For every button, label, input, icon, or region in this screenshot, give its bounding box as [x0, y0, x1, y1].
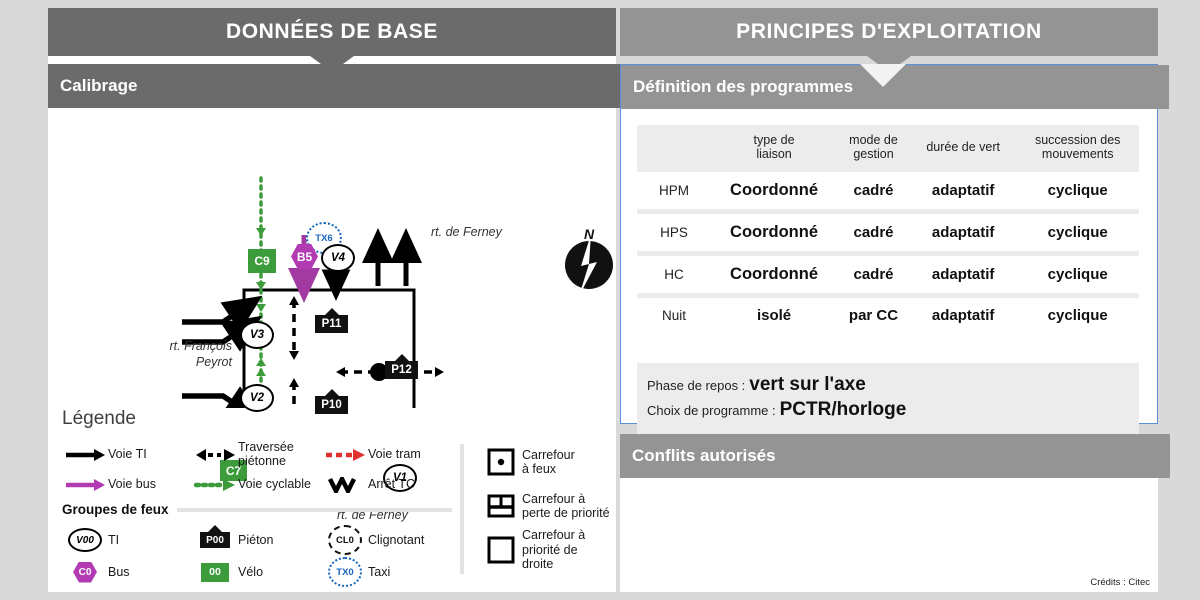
cell-duree-vert: adaptatif — [910, 211, 1016, 253]
legend-row: Voie bus Voie cyclable Arrêt TC — [62, 470, 452, 500]
cell-mode-gestion: par CC — [837, 295, 910, 333]
cell-mode-gestion: cadré — [837, 211, 910, 253]
ped-p11-arrow-up — [289, 296, 299, 305]
right-subheader-2: Conflits autorisés — [620, 434, 1170, 478]
table-row: Nuit isolé par CC adaptatif cyclique — [637, 295, 1139, 333]
square-dot-icon — [480, 447, 522, 477]
carrefour-item-perte-priorite: Carrefour à perte de priorité — [480, 484, 610, 528]
left-body: rt. de Ferney rt. de Ferney rt. François… — [48, 108, 616, 592]
bus-badge-icon: C0 — [62, 562, 108, 583]
groupe-item-velo: 00 Vélo — [192, 563, 322, 582]
marker-p12[interactable]: P12 — [385, 361, 418, 379]
square-empty-icon — [480, 535, 522, 565]
table-header-succession: succession desmouvements — [1016, 125, 1139, 171]
groupe-label: Piéton — [238, 533, 273, 547]
legend-lines-grid: Voie TI Traverséepiétonne Voie tram — [62, 440, 452, 500]
arrow-dotted-green-icon — [192, 478, 238, 492]
taxi-badge-icon: TX0 — [322, 557, 368, 587]
marker-c9[interactable]: C9 — [248, 249, 276, 273]
table-header-duree-vert: durée de vert — [910, 125, 1016, 171]
zigzag-icon — [322, 477, 368, 493]
credits-label: Crédits : Citec — [1090, 577, 1150, 588]
legend-label: Voie cyclable — [238, 478, 311, 492]
groupes-title: Groupes de feux — [62, 502, 169, 517]
velo-badge-icon: 00 — [192, 563, 238, 582]
note-phase-repos: Phase de repos : vert sur l'axe — [647, 374, 1129, 396]
table-header-type-liaison: type deliaison — [711, 125, 837, 171]
note-value: vert sur l'axe — [749, 374, 865, 396]
groupes-row: V00 TI P00 Piéton CL0 Clignotant — [62, 524, 452, 556]
cell-duree-vert: adaptatif — [910, 171, 1016, 212]
cycle-arrow-up-a — [256, 304, 266, 312]
carrefour-item-priorite-droite: Carrefour à priorité de droite — [480, 528, 610, 572]
legend-title: Légende — [62, 408, 136, 430]
left-subheader-title: Calibrage — [60, 76, 137, 96]
cell-succession: cyclique — [1016, 171, 1139, 212]
table-row: HPS Coordonné cadré adaptatif cyclique — [637, 211, 1139, 253]
carrefour-label-line2: priorité de droite — [522, 543, 578, 571]
road-label-left-line1: rt. François — [148, 339, 232, 355]
row-label: HPS — [637, 211, 711, 253]
cell-type-liaison: Coordonné — [711, 171, 837, 212]
groupe-label: Clignotant — [368, 533, 424, 547]
legend-label: Arrêt TC — [368, 478, 415, 492]
arrow-dashed-black-icon — [192, 448, 238, 462]
groupe-item-taxi: TX0 Taxi — [322, 557, 452, 587]
note-label: Phase de repos : — [647, 378, 745, 393]
clignotant-badge-icon: CL0 — [322, 525, 368, 555]
table-row: HPM Coordonné cadré adaptatif cyclique — [637, 171, 1139, 212]
groupe-item-clignotant: CL0 Clignotant — [322, 525, 452, 555]
table-header-mode-gestion: mode degestion — [837, 125, 910, 171]
legend: Légende Voie TI Traverséepiétonne — [48, 404, 616, 592]
legend-item-voie-ti: Voie TI — [62, 448, 192, 462]
carrefour-label-line1: Carrefour à — [522, 492, 585, 506]
arrow-black-icon — [62, 448, 108, 462]
right-subheader-1-title: Définition des programmes — [633, 77, 853, 97]
cycle-arrow-down-c — [256, 358, 266, 366]
square-split-icon — [480, 491, 522, 521]
note-value: PCTR/horloge — [780, 399, 907, 421]
pieton-badge-icon: P00 — [192, 532, 238, 548]
legend-item-voie-cyclable: Voie cyclable — [192, 478, 322, 492]
v3-arrow-top — [182, 308, 244, 322]
groupe-item-pieton: P00 Piéton — [192, 532, 322, 548]
left-subheader: Calibrage — [48, 64, 628, 108]
carrefour-label-line1: Carrefour — [522, 448, 575, 462]
cell-duree-vert: adaptatif — [910, 295, 1016, 333]
legend-label: Voie TI — [108, 448, 147, 462]
marker-v4[interactable]: V4 — [321, 244, 355, 272]
cycle-arrow-down-a — [256, 228, 266, 236]
right-subheader-2-title: Conflits autorisés — [632, 446, 776, 466]
cell-type-liaison: Coordonné — [711, 253, 837, 295]
row-label: Nuit — [637, 295, 711, 333]
groupe-label: Taxi — [368, 565, 390, 579]
legend-item-voie-bus: Voie bus — [62, 478, 192, 492]
programmes-table: type deliaison mode degestion durée de v… — [637, 125, 1139, 333]
legend-item-arret-tc: Arrêt TC — [322, 477, 452, 493]
definition-programmes-card: type deliaison mode degestion durée de v… — [620, 64, 1158, 424]
cell-type-liaison: Coordonné — [711, 211, 837, 253]
groupe-label: Vélo — [238, 565, 263, 579]
carrefour-label-line2: perte de priorité — [522, 506, 610, 520]
note-label: Choix de programme : — [647, 403, 776, 418]
cycle-arrow-up-b — [256, 368, 266, 376]
road-label-top: rt. de Ferney — [431, 225, 502, 239]
carrefour-label-line2: à feux — [522, 462, 556, 476]
table-header-row: type deliaison mode degestion durée de v… — [637, 125, 1139, 171]
arrow-purple-icon — [62, 478, 108, 492]
cell-duree-vert: adaptatif — [910, 253, 1016, 295]
legend-label-line1: Traversée — [238, 440, 294, 454]
left-banner: DONNÉES DE BASE — [48, 8, 616, 56]
groupes-divider — [177, 508, 452, 512]
carrefour-legend: Carrefour à feux Carrefour à perte de pr… — [480, 440, 610, 572]
marker-p11[interactable]: P11 — [315, 315, 348, 333]
legend-row: Voie TI Traverséepiétonne Voie tram — [62, 440, 452, 470]
ti-badge-icon: V00 — [62, 528, 108, 552]
legend-item-voie-tram: Voie tram — [322, 448, 452, 462]
right-subheader-notch — [860, 64, 906, 88]
cell-type-liaison: isolé — [711, 295, 837, 333]
groupes-grid: V00 TI P00 Piéton CL0 Clignotant — [62, 524, 452, 588]
cell-succession: cyclique — [1016, 211, 1139, 253]
right-banner-title: PRINCIPES D'EXPLOITATION — [736, 20, 1042, 44]
ped-p12-arrow-left — [336, 367, 345, 377]
ped-p12-arrow-right — [435, 367, 444, 377]
groupe-label: Bus — [108, 565, 130, 579]
road-label-left-line2: Peyrot — [148, 355, 232, 371]
table-row: HC Coordonné cadré adaptatif cyclique — [637, 253, 1139, 295]
carrefour-item-a-feux: Carrefour à feux — [480, 440, 610, 484]
carrefour-label-line1: Carrefour à — [522, 528, 585, 542]
groupes-row: C0 Bus 00 Vélo TX0 Taxi — [62, 556, 452, 588]
cell-succession: cyclique — [1016, 253, 1139, 295]
legend-label: Voie tram — [368, 448, 421, 462]
legend-item-traversee-pietonne: Traverséepiétonne — [192, 441, 322, 469]
ped-p11-arrow-down — [289, 351, 299, 360]
marker-v3[interactable]: V3 — [240, 321, 274, 349]
groupe-label: TI — [108, 533, 119, 547]
note-choix-programme: Choix de programme : PCTR/horloge — [647, 399, 1129, 421]
legend-vertical-divider — [460, 444, 464, 574]
row-label: HPM — [637, 171, 711, 212]
compass-north-label: N — [584, 226, 594, 242]
groupe-item-bus: C0 Bus — [62, 562, 192, 583]
cell-succession: cyclique — [1016, 295, 1139, 333]
right-banner: PRINCIPES D'EXPLOITATION — [620, 8, 1158, 56]
cell-mode-gestion: cadré — [837, 171, 910, 212]
groupes-de-feux-header: Groupes de feux — [62, 502, 452, 517]
arrow-dashed-red-icon — [322, 448, 368, 462]
cell-mode-gestion: cadré — [837, 253, 910, 295]
row-label: HC — [637, 253, 711, 295]
ped-p10-arrow-up — [289, 378, 299, 387]
groupe-item-ti: V00 TI — [62, 528, 192, 552]
programme-notes: Phase de repos : vert sur l'axe Choix de… — [637, 363, 1139, 434]
left-banner-title: DONNÉES DE BASE — [226, 20, 438, 44]
legend-label-line2: piétonne — [238, 454, 286, 468]
table-header-blank — [637, 125, 711, 171]
legend-label: Voie bus — [108, 478, 156, 492]
